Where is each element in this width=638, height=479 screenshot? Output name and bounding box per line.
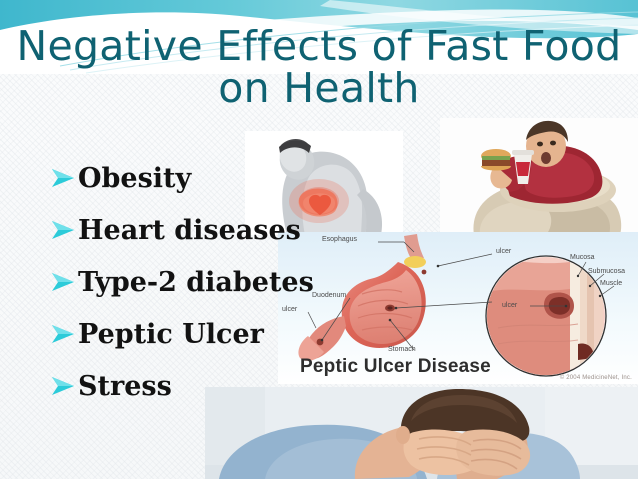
ulcer-label-mucosa: Mucosa bbox=[570, 254, 595, 261]
ulcer-label-muscle: Muscle bbox=[600, 280, 622, 287]
list-item-label: Type-2 diabetes bbox=[78, 269, 314, 296]
list-item-label: Peptic Ulcer bbox=[78, 321, 264, 348]
arrow-bullet-icon bbox=[50, 219, 76, 241]
presentation-slide: Negative Effects of Fast Food on Health … bbox=[0, 0, 638, 479]
arrow-bullet-icon bbox=[50, 375, 76, 397]
list-item[interactable]: Obesity bbox=[50, 152, 290, 204]
peptic-ulcer-diagram: Esophagus ulcer Mucosa Submucosa Muscle … bbox=[278, 232, 638, 384]
ulcer-label-submucosa: Submucosa bbox=[588, 268, 625, 275]
list-item[interactable]: Stress bbox=[50, 360, 290, 412]
ulcer-label-ulcer-top: ulcer bbox=[496, 248, 511, 255]
obesity-photo bbox=[440, 118, 638, 235]
list-item-label: Stress bbox=[78, 373, 172, 400]
slide-title-line-2: on Health bbox=[0, 68, 638, 110]
ulcer-diagram-credit: © 2004 MedicineNet, Inc. bbox=[560, 375, 632, 381]
ulcer-label-esophagus: Esophagus bbox=[322, 236, 357, 243]
arrow-bullet-icon bbox=[50, 271, 76, 293]
effects-bullet-list: Obesity Heart diseases Type-2 diabetes bbox=[50, 152, 290, 412]
list-item[interactable]: Heart diseases bbox=[50, 204, 290, 256]
list-item[interactable]: Type-2 diabetes bbox=[50, 256, 290, 308]
list-item-label: Heart diseases bbox=[78, 217, 301, 244]
list-item[interactable]: Peptic Ulcer bbox=[50, 308, 290, 360]
ulcer-label-ulcer-mag: ulcer bbox=[502, 302, 517, 309]
ulcer-label-stomach: Stomach bbox=[388, 346, 416, 353]
arrow-bullet-icon bbox=[50, 323, 76, 345]
slide-title-line-1: Negative Effects of Fast Food bbox=[16, 22, 621, 70]
slide-title: Negative Effects of Fast Food on Health bbox=[0, 26, 638, 110]
arrow-bullet-icon bbox=[50, 167, 76, 189]
ulcer-diagram-caption: Peptic Ulcer Disease bbox=[300, 356, 491, 378]
ulcer-label-duodenum: Duodenum bbox=[312, 292, 346, 299]
list-item-label: Obesity bbox=[78, 165, 191, 192]
